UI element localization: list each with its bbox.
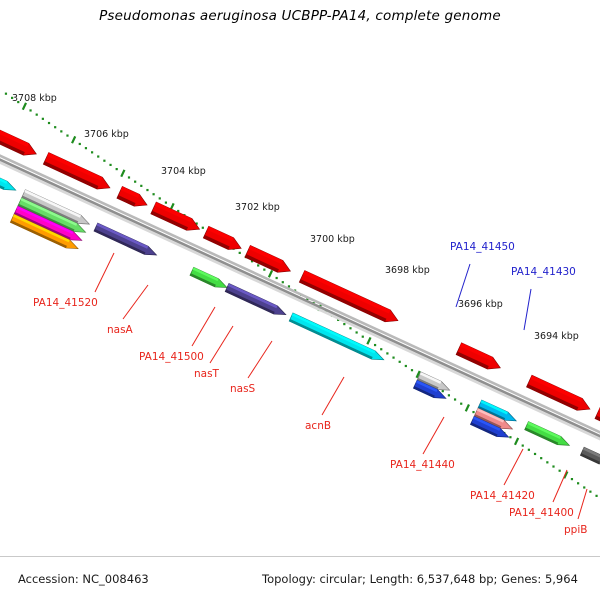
scale-tick-label: 3706 kbp: [84, 129, 129, 140]
scale-tick-label: 3704 kbp: [161, 166, 206, 177]
gene-label-pa14_41520[interactable]: PA14_41520: [33, 297, 98, 309]
scale-tick-label: 3694 kbp: [534, 331, 579, 342]
genome-summary-text: Topology: circular; Length: 6,537,648 bp…: [262, 572, 578, 586]
gene-label-pa14_41400[interactable]: PA14_41400: [509, 507, 574, 519]
gene-arrow[interactable]: [117, 186, 147, 206]
gene-label-pa14_41450[interactable]: PA14_41450: [450, 241, 515, 253]
gene-arrow[interactable]: [245, 245, 291, 272]
scale-tick-label: 3702 kbp: [235, 202, 280, 213]
gene-label-nast[interactable]: nasT: [194, 368, 219, 380]
gene-track[interactable]: [0, 116, 600, 477]
scale-tick-label: 3696 kbp: [458, 299, 503, 310]
gene-label-pa14_41420[interactable]: PA14_41420: [470, 490, 535, 502]
gene-arrow[interactable]: [580, 447, 600, 464]
gene-arrow[interactable]: [289, 313, 384, 360]
gene-label-nasa[interactable]: nasA: [107, 324, 133, 336]
gene-label-pa14_41440[interactable]: PA14_41440: [390, 459, 455, 471]
scale-tick-label: 3698 kbp: [385, 265, 430, 276]
gene-arrow[interactable]: [190, 267, 227, 287]
footer-divider: [0, 556, 600, 557]
gene-arrow[interactable]: [0, 116, 36, 156]
genome-map-viewer: Pseudomonas aeruginosa UCBPP-PA14, compl…: [0, 0, 600, 600]
gene-arrow[interactable]: [456, 343, 500, 369]
scale-tick-label: 3700 kbp: [310, 234, 355, 245]
gene-arrow[interactable]: [203, 226, 241, 249]
gene-arrow[interactable]: [299, 270, 398, 321]
gene-label-pa14_41430[interactable]: PA14_41430: [511, 266, 576, 278]
gene-arrow[interactable]: [151, 202, 200, 230]
gene-label-acnb[interactable]: acnB: [305, 420, 331, 432]
gene-label-pa14_41500[interactable]: PA14_41500: [139, 351, 204, 363]
gene-arrow[interactable]: [526, 375, 590, 410]
accession-text: Accession: NC_008463: [18, 572, 149, 586]
scale-tick-label: 3708 kbp: [12, 93, 57, 104]
gene-arrow[interactable]: [525, 421, 570, 445]
gene-label-ppib[interactable]: ppiB: [564, 524, 587, 536]
gene-label-nass[interactable]: nasS: [230, 383, 255, 395]
